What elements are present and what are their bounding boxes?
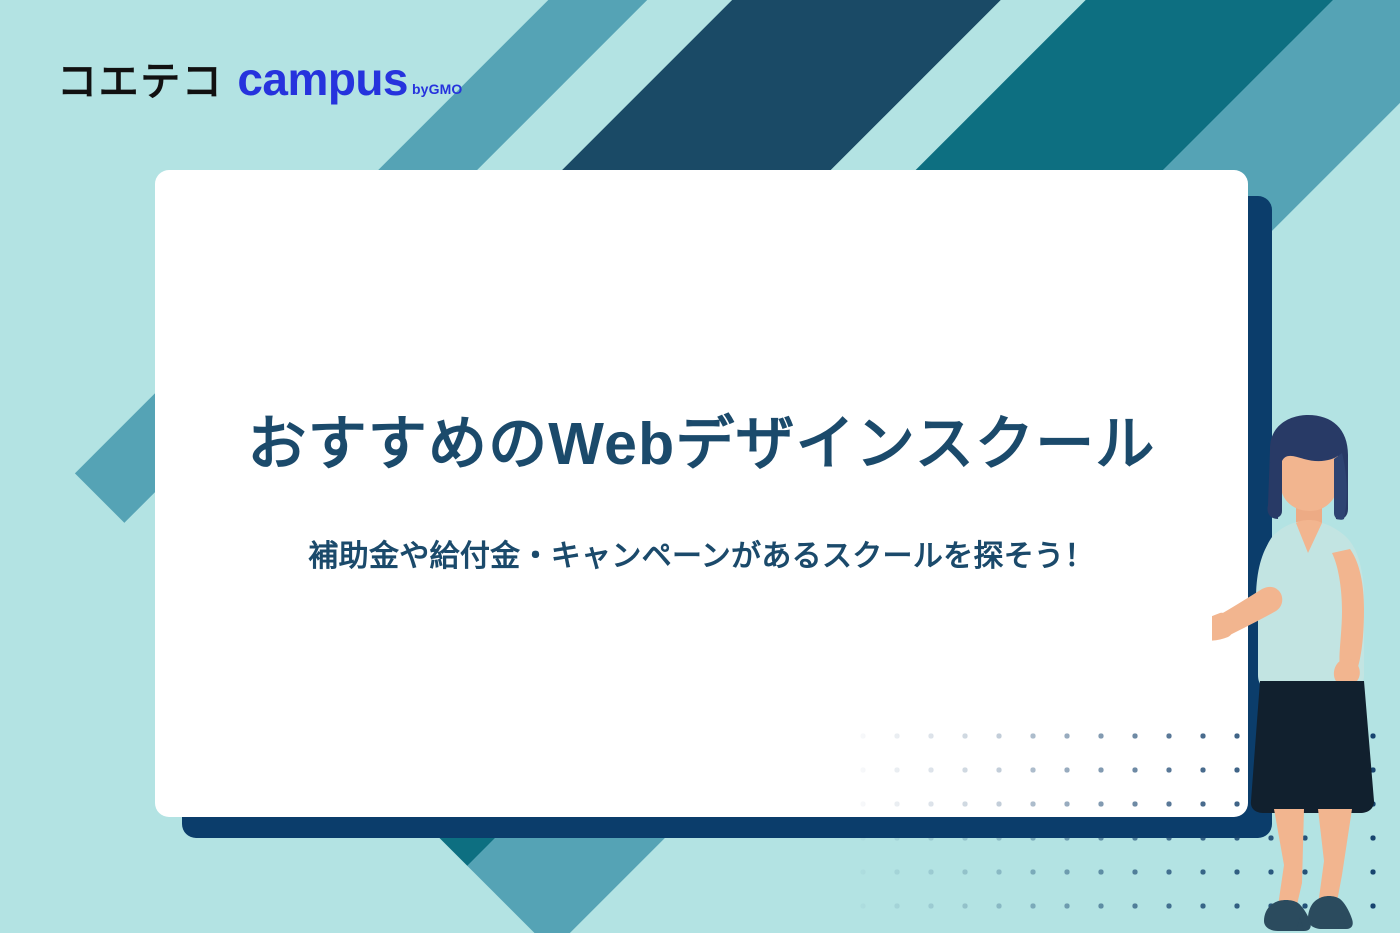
site-logo[interactable]: コエテコ campus byGMO [57, 58, 462, 102]
woman-presenting-illustration [1212, 413, 1392, 933]
page-title: おすすめのWebデザインスクール [247, 412, 1155, 477]
logo-bygmo-text: byGMO [412, 82, 462, 102]
page-subtitle: 補助金や給付金・キャンペーンがあるスクールを探そう！ [308, 539, 1094, 575]
logo-campus-group: campus byGMO [237, 58, 462, 102]
logo-campus-text: campus [237, 58, 408, 102]
hero-banner: コエテコ campus byGMO おすすめのWebデザインスクール 補助金や給… [0, 0, 1400, 933]
hero-card: おすすめのWebデザインスクール 補助金や給付金・キャンペーンがあるスクールを探… [155, 170, 1248, 817]
logo-koeteko-text: コエテコ [57, 62, 223, 102]
